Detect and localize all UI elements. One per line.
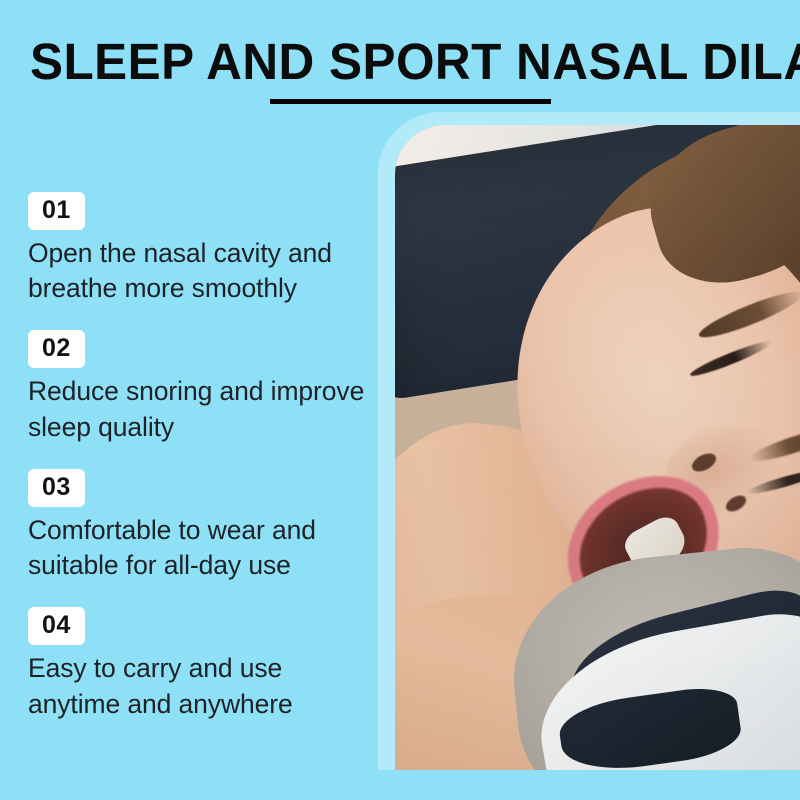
title-underline-divider <box>270 99 551 104</box>
product-feature-poster: SLEEP AND SPORT NASAL DILATOR 01 Open th… <box>0 0 800 800</box>
feature-item-01: 01 Open the nasal cavity and breathe mor… <box>28 192 388 306</box>
feature-number-badge: 01 <box>28 192 85 230</box>
photo-tone-overlay <box>395 125 800 770</box>
feature-item-02: 02 Reduce snoring and improve sleep qual… <box>28 330 388 444</box>
feature-description: Reduce snoring and improve sleep quality <box>28 374 378 444</box>
feature-number-badge: 02 <box>28 330 85 368</box>
feature-number-badge: 03 <box>28 469 85 507</box>
feature-list: 01 Open the nasal cavity and breathe mor… <box>28 192 388 722</box>
photo-frame <box>378 112 800 770</box>
feature-number-badge: 04 <box>28 607 85 645</box>
feature-description: Comfortable to wear and suitable for all… <box>28 513 378 583</box>
sleeping-woman-photo <box>395 125 800 770</box>
feature-description: Easy to carry and use anytime and anywhe… <box>28 651 378 721</box>
feature-description: Open the nasal cavity and breathe more s… <box>28 236 378 306</box>
page-title: SLEEP AND SPORT NASAL DILATOR <box>30 36 758 87</box>
feature-item-04: 04 Easy to carry and use anytime and any… <box>28 607 388 721</box>
feature-item-03: 03 Comfortable to wear and suitable for … <box>28 469 388 583</box>
